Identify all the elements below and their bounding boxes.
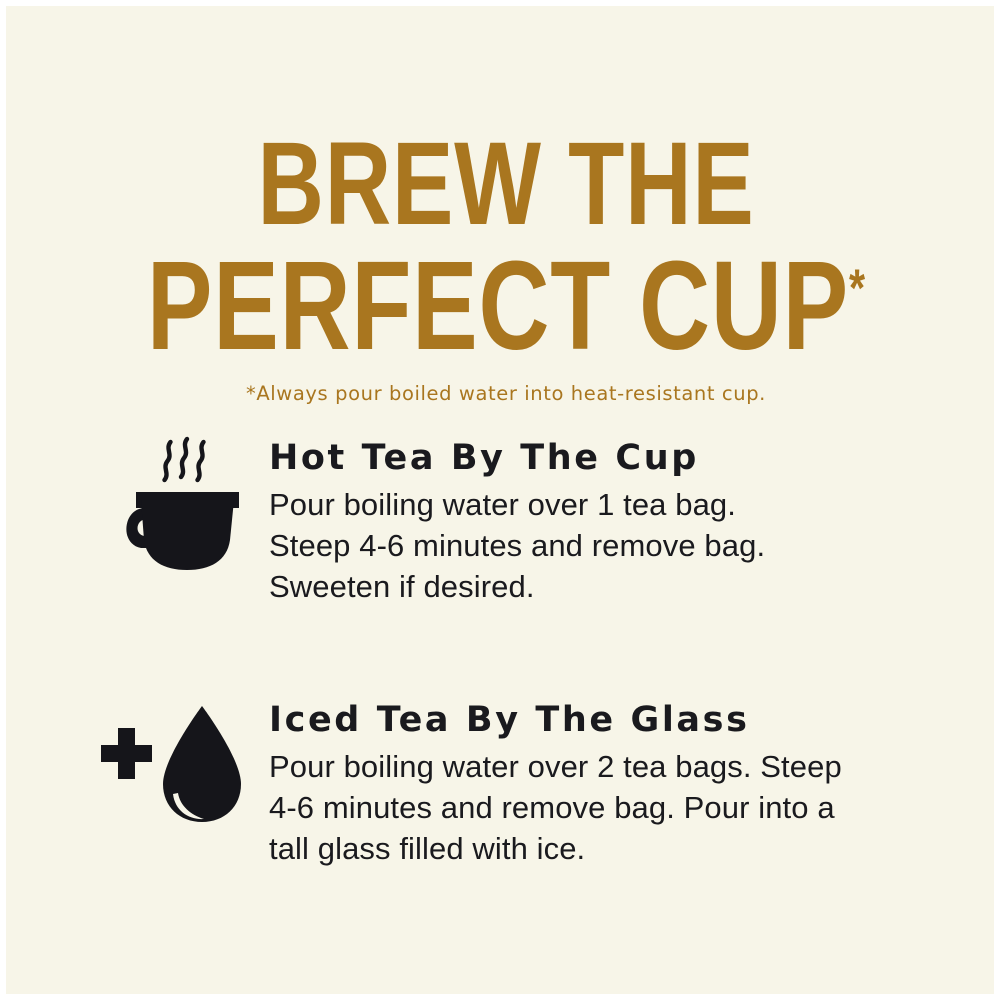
section-heading-iced-tea: Iced Tea By The Glass [269, 700, 951, 740]
body-line: Pour boiling water over 2 tea bags. Stee… [269, 746, 951, 787]
hot-tea-text-block: Hot Tea By The Cup Pour boiling water ov… [269, 436, 941, 607]
instruction-section-iced-tea: Iced Tea By The Glass Pour boiling water… [101, 698, 951, 869]
plus-icon [101, 728, 152, 779]
headline-block: BREW THE PERFECT CUP* *Always pour boile… [6, 124, 1000, 405]
headline-line-1: BREW THE [116, 124, 896, 244]
instruction-section-hot-tea: Hot Tea By The Cup Pour boiling water ov… [111, 436, 941, 607]
water-droplet-icon [163, 706, 241, 822]
iced-tea-text-block: Iced Tea By The Glass Pour boiling water… [269, 698, 951, 869]
body-line: Steep 4-6 minutes and remove bag. [269, 525, 941, 566]
section-heading-hot-tea: Hot Tea By The Cup [269, 438, 941, 478]
iced-tea-icon-group [101, 698, 269, 838]
hot-mug-icon [111, 436, 269, 576]
section-body-iced-tea: Pour boiling water over 2 tea bags. Stee… [269, 746, 951, 869]
headline-line-2-text: PERFECT CUP [147, 235, 849, 376]
headline-asterisk: * [849, 259, 865, 318]
headline-subtitle: *Always pour boiled water into heat-resi… [6, 382, 1000, 405]
poster-canvas: BREW THE PERFECT CUP* *Always pour boile… [0, 0, 1000, 1000]
section-body-hot-tea: Pour boiling water over 1 tea bag. Steep… [269, 484, 941, 607]
body-line: 4-6 minutes and remove bag. Pour into a [269, 787, 951, 828]
body-line: Pour boiling water over 1 tea bag. [269, 484, 941, 525]
headline-line-2: PERFECT CUP* [116, 244, 896, 368]
body-line: tall glass filled with ice. [269, 828, 951, 869]
body-line: Sweeten if desired. [269, 566, 941, 607]
